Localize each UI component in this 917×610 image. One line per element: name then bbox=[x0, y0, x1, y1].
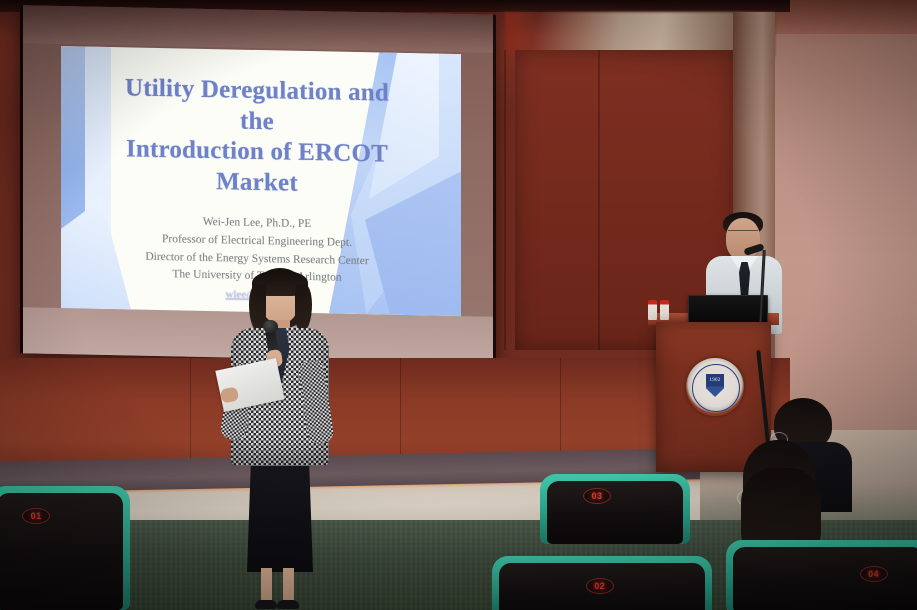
slide-title-line-1: Utility Deregulation and the bbox=[105, 73, 409, 140]
presenter-head bbox=[726, 218, 760, 260]
slide-title-line-2: Introduction of ERCOT bbox=[105, 134, 409, 171]
screen-top-border bbox=[23, 5, 493, 52]
seat-number-02: 02 bbox=[586, 578, 614, 594]
seat-back-03 bbox=[547, 481, 683, 544]
microphone-head-icon bbox=[263, 320, 278, 333]
seat-back-01 bbox=[0, 493, 123, 610]
seat-number-03: 03 bbox=[583, 488, 611, 504]
speaker-leg-right bbox=[283, 568, 294, 604]
seat-number-04: 04 bbox=[860, 566, 888, 582]
water-bottle-2 bbox=[660, 300, 669, 320]
seat-back-04 bbox=[733, 547, 917, 610]
right-wall-upper-band bbox=[772, 0, 917, 34]
speaker-shoe-left bbox=[255, 600, 277, 609]
seat-number-01: 01 bbox=[22, 508, 50, 524]
seat-04[interactable]: 04 bbox=[726, 540, 917, 610]
presenter-glasses-icon bbox=[728, 230, 758, 237]
speaker-hair-right bbox=[295, 284, 312, 332]
seat-01[interactable]: 01 bbox=[0, 486, 130, 610]
slide-title-line-3: Market bbox=[105, 164, 409, 201]
wall-seam-1 bbox=[598, 50, 600, 350]
water-bottle-1 bbox=[648, 300, 657, 320]
wall-seam-2 bbox=[504, 50, 506, 350]
speaker-woman bbox=[225, 268, 335, 598]
speaker-shoe-right bbox=[277, 600, 299, 609]
university-seal-icon: 1902 bbox=[686, 358, 744, 416]
seat-02[interactable]: 02 bbox=[492, 556, 712, 610]
slide-title: Utility Deregulation and the Introductio… bbox=[105, 73, 409, 201]
presentation-photo: Utility Deregulation and the Introductio… bbox=[0, 0, 917, 610]
seal-year-label: 1902 bbox=[709, 378, 720, 383]
speaker-leg-left bbox=[261, 568, 272, 604]
speaker-skirt bbox=[247, 460, 313, 572]
podium-laptop bbox=[688, 295, 768, 323]
seat-03[interactable]: 03 bbox=[540, 474, 690, 544]
